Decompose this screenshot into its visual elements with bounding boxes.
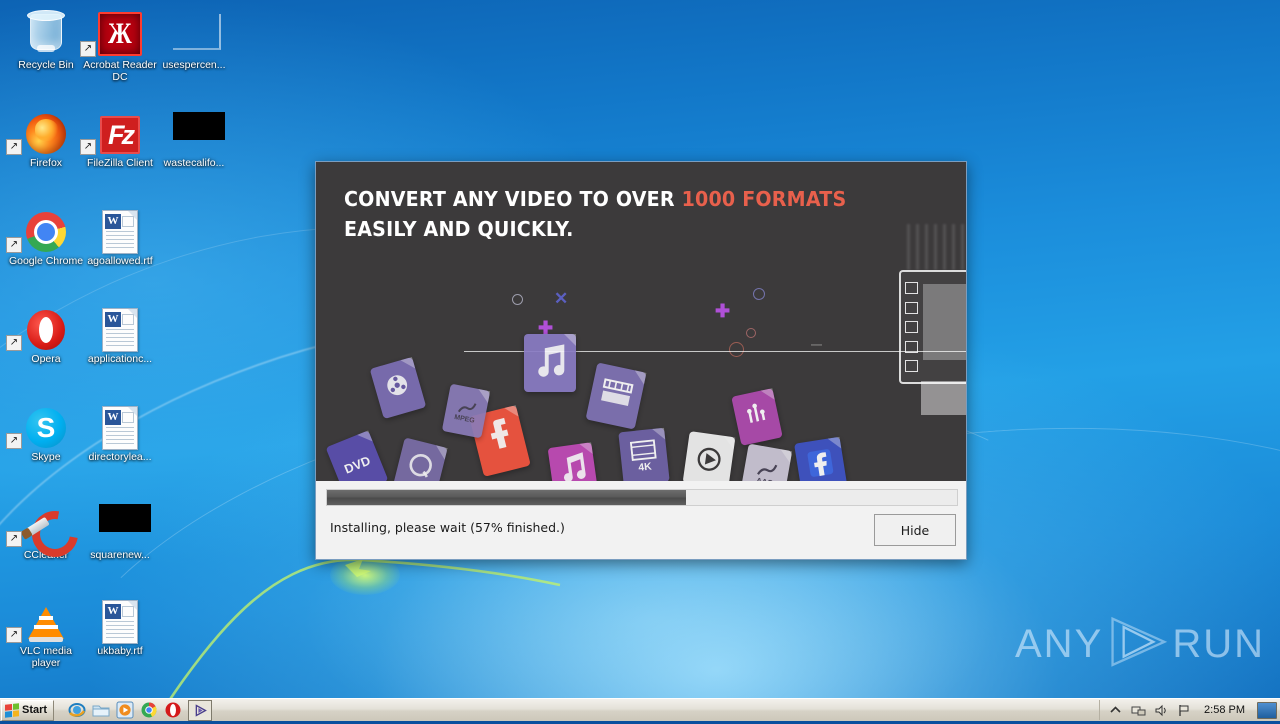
desktop-icon-label: wastecalifo... (156, 157, 232, 169)
desktop-icon-filezilla-client[interactable]: Fz↗FileZilla Client (82, 106, 158, 169)
desktop-icon-label: Skype (8, 451, 84, 463)
desktop-icon-firefox[interactable]: ↗Firefox (8, 106, 84, 169)
desktop-icon-google-chrome[interactable]: ↗Google Chrome (8, 204, 84, 267)
mixer-file-icon (731, 388, 782, 446)
quicktime-file-icon (392, 437, 447, 481)
rtf-document-icon: W (99, 406, 141, 448)
filezilla-icon: Fz (100, 116, 140, 154)
taskbar[interactable]: Start (0, 698, 1280, 721)
network-icon[interactable] (1131, 703, 1146, 718)
desktop-icon-label: Google Chrome (8, 255, 84, 267)
audio-file-icon (548, 442, 599, 481)
desktop-icon-ccleaner[interactable]: ↗CCleaner (8, 498, 84, 561)
play-file-icon (683, 431, 736, 481)
desktop-icon-recycle-bin[interactable]: Recycle Bin (8, 8, 84, 71)
taskbar-clock[interactable]: 2:58 PM (1200, 704, 1249, 716)
desktop-icon-label: Firefox (8, 157, 84, 169)
icon-glyph (82, 498, 158, 546)
desktop-icon-label: directorylea... (82, 451, 158, 463)
shortcut-arrow-icon: ↗ (6, 627, 22, 643)
install-status-text: Installing, please wait (57% finished.) (330, 520, 565, 535)
headline-line2: EASILY AND QUICKLY. (344, 217, 574, 241)
desktop-icon-label: VLC media player (8, 645, 84, 669)
ccleaner-icon (26, 508, 66, 546)
volume-icon[interactable] (1154, 703, 1169, 718)
icon-glyph: ↗ (8, 594, 84, 642)
hide-button[interactable]: Hide (874, 514, 956, 546)
system-tray[interactable]: 2:58 PM (1099, 700, 1280, 720)
firefox-icon (26, 114, 66, 154)
start-button[interactable]: Start (1, 700, 54, 721)
facebook-file-icon (794, 437, 848, 481)
dvd-file-icon: DVD (326, 430, 389, 481)
desktop-icon-label: Acrobat Reader DC (82, 59, 158, 83)
media-player-task-icon[interactable] (188, 700, 212, 721)
shortcut-arrow-icon: ↗ (6, 335, 22, 351)
aac-file-icon: AAC (740, 444, 792, 481)
windows-logo-icon (5, 703, 19, 717)
desktop-icon-label: applicationc... (82, 353, 158, 365)
desktop-icon-ukbaby-rtf[interactable]: Wukbaby.rtf (82, 594, 158, 657)
vlc-icon (28, 604, 64, 642)
desktop-icon-label: squarenew... (82, 549, 158, 561)
opera-icon (27, 310, 65, 350)
shortcut-arrow-icon: ↗ (6, 237, 22, 253)
icon-glyph: ↗ (8, 302, 84, 350)
skype-icon: S (26, 408, 66, 448)
icon-glyph (8, 8, 84, 56)
desktop-icon-agoallowed-rtf[interactable]: Wagoallowed.rtf (82, 204, 158, 267)
icon-glyph (156, 8, 232, 56)
decor-dash-icon: — (811, 340, 822, 351)
headline-part1: CONVERT ANY VIDEO TO OVER (344, 187, 682, 211)
icon-glyph: W (82, 594, 158, 642)
icon-glyph: W (82, 204, 158, 252)
desktop-icon-label: Opera (8, 353, 84, 365)
desktop-icon-skype[interactable]: S↗Skype (8, 400, 84, 463)
rtf-document-icon: W (99, 308, 141, 350)
desktop-icon-directorylea[interactable]: Wdirectorylea... (82, 400, 158, 463)
action-center-flag-icon[interactable] (1177, 703, 1192, 718)
icon-glyph: Ж↗ (82, 8, 158, 56)
icon-glyph: ↗ (8, 498, 84, 546)
reel-file-icon (370, 357, 427, 419)
svg-text:DVD: DVD (342, 454, 372, 477)
chrome-icon (26, 212, 66, 252)
acrobat-icon: Ж (98, 12, 142, 56)
svg-text:AAC: AAC (755, 476, 773, 481)
icon-glyph: ↗ (8, 204, 84, 252)
film-strip-illustration (899, 250, 966, 395)
desktop-icon-label: agoallowed.rtf (82, 255, 158, 267)
decor-circle-icon (512, 294, 523, 305)
decor-circle-icon (746, 328, 756, 338)
desktop-icon-label: ukbaby.rtf (82, 645, 158, 657)
wallpaper-trail-glow (330, 555, 400, 595)
desktop-icon-label: FileZilla Client (82, 157, 158, 169)
windows-media-player-icon[interactable] (116, 701, 134, 719)
desktop-icon-applicationc[interactable]: Wapplicationc... (82, 302, 158, 365)
shortcut-arrow-icon: ↗ (6, 139, 22, 155)
rtf-document-icon: W (99, 600, 141, 642)
progress-bar-fill (327, 490, 686, 505)
decor-circle-icon (753, 288, 765, 300)
desktop-icon-squarenew[interactable]: squarenew... (82, 498, 158, 561)
svg-text:4K: 4K (638, 461, 653, 473)
desktop-icon-label: usespercen... (156, 59, 232, 71)
svg-text:MPEG: MPEG (454, 414, 476, 425)
shortcut-arrow-icon: ↗ (6, 433, 22, 449)
explorer-folder-icon[interactable] (92, 701, 110, 719)
start-button-label: Start (22, 704, 47, 716)
icon-glyph: ↗ (8, 106, 84, 154)
desktop-icon-usespercen[interactable]: usespercen... (156, 8, 232, 71)
installer-banner: CONVERT ANY VIDEO TO OVER 1000 FORMATS E… (316, 162, 966, 481)
show-hidden-icons-icon[interactable] (1108, 703, 1123, 718)
shortcut-arrow-icon: ↗ (80, 139, 96, 155)
shortcut-arrow-icon: ↗ (6, 531, 22, 547)
music-file-icon (524, 334, 576, 392)
internet-explorer-icon[interactable] (68, 701, 86, 719)
rtf-document-icon: W (99, 210, 141, 252)
black-thumbnail-file-icon (99, 504, 141, 546)
blank-thumbnail-file-icon (173, 14, 215, 56)
icon-glyph: W (82, 400, 158, 448)
desktop-icon-vlc-media-player[interactable]: ↗VLC media player (8, 594, 84, 669)
headline-highlight: 1000 FORMATS (682, 187, 847, 211)
icon-glyph: Fz↗ (82, 106, 158, 154)
desktop-icon-opera[interactable]: ↗Opera (8, 302, 84, 365)
recycle-bin-icon (25, 14, 67, 56)
video-clapper-file-icon (586, 362, 647, 429)
decor-plus-icon: ✚ (715, 302, 730, 320)
desktop-icon-wastecalifo[interactable]: wastecalifo... (156, 106, 232, 169)
shortcut-arrow-icon: ↗ (80, 41, 96, 57)
banner-headline: CONVERT ANY VIDEO TO OVER 1000 FORMATS E… (344, 184, 902, 244)
desktop-icon-acrobat-reader-dc[interactable]: Ж↗Acrobat Reader DC (82, 8, 158, 83)
chrome-icon[interactable] (140, 701, 158, 719)
opera-icon[interactable] (164, 701, 182, 719)
icon-glyph: S↗ (8, 400, 84, 448)
4k-file-icon: 4K (618, 428, 669, 481)
progress-bar-track (326, 489, 958, 506)
quick-launch-bar[interactable] (68, 700, 212, 720)
desktop-icon-label: Recycle Bin (8, 59, 84, 71)
decor-x-icon: ✕ (554, 290, 568, 307)
icon-glyph: W (82, 302, 158, 350)
show-desktop-button[interactable] (1257, 702, 1277, 719)
black-thumbnail-file-icon (173, 112, 215, 154)
decor-circle-icon (729, 342, 744, 357)
installer-window[interactable]: CONVERT ANY VIDEO TO OVER 1000 FORMATS E… (315, 161, 967, 560)
icon-glyph (156, 106, 232, 154)
